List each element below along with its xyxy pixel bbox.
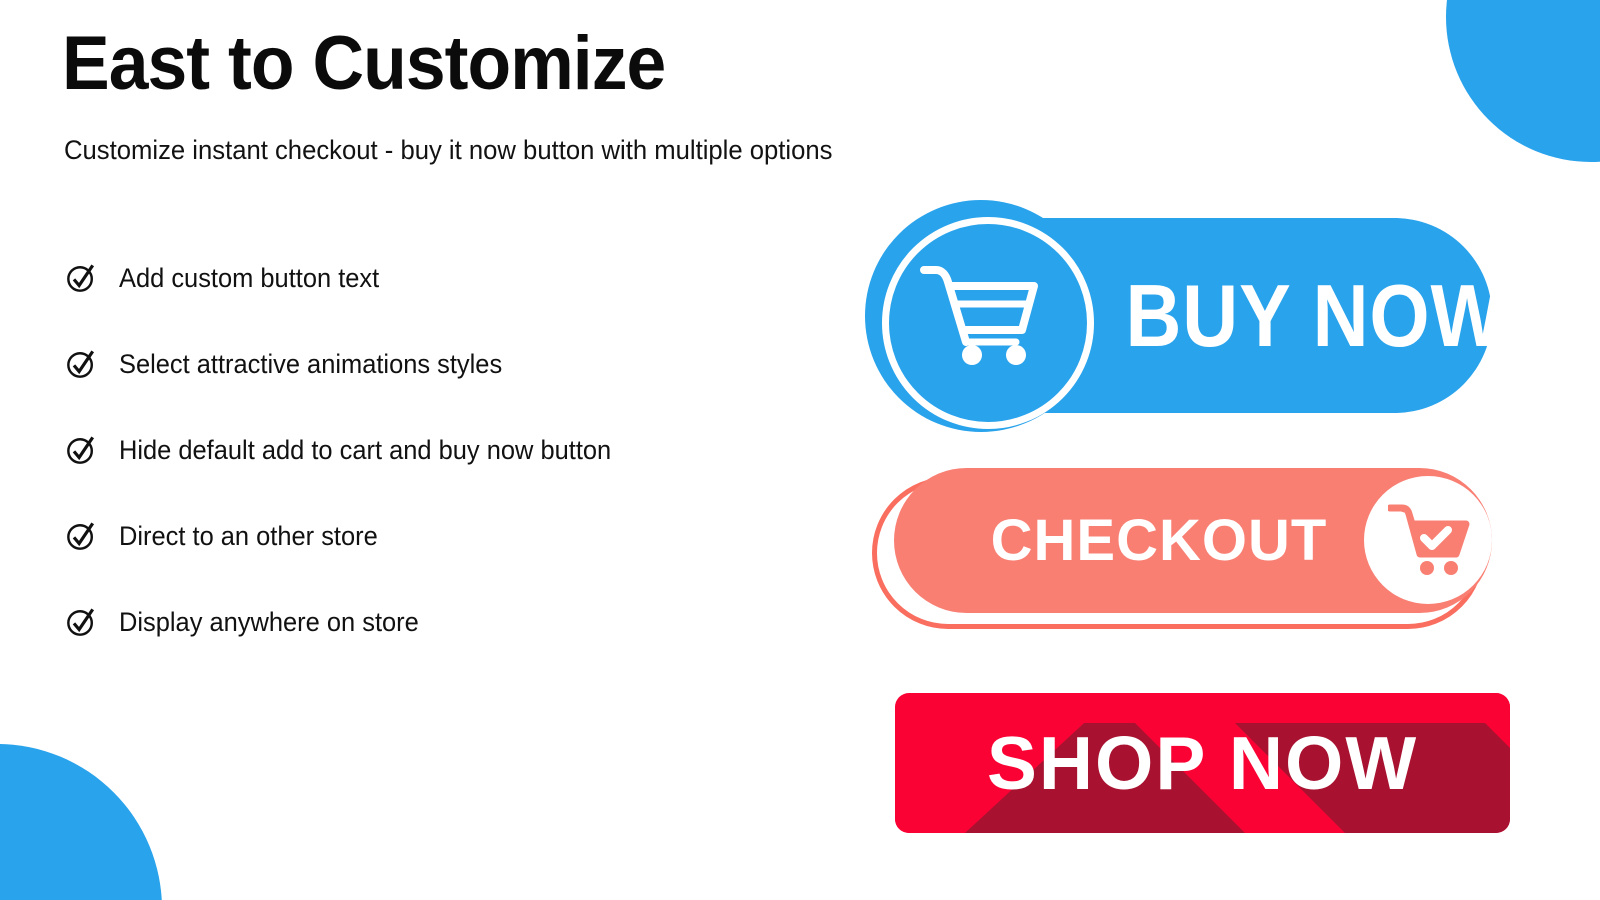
list-item-label: Hide default add to cart and buy now but… — [119, 435, 611, 466]
check-circle-icon — [66, 349, 96, 379]
checkout-body: CHECKOUT — [894, 468, 1492, 613]
check-circle-icon — [66, 435, 96, 465]
promo-banner: East to Customize Customize instant chec… — [0, 0, 1600, 900]
bottom-left-circle-decoration — [0, 744, 162, 900]
shopping-cart-outline-icon — [920, 262, 1042, 370]
list-item: Add custom button text — [66, 250, 886, 306]
list-item-label: Direct to an other store — [119, 521, 378, 552]
checkout-button[interactable]: CHECKOUT — [872, 468, 1492, 623]
buy-now-button[interactable]: BUY NOW — [905, 218, 1492, 413]
shop-now-label: SHOP NOW — [895, 693, 1510, 833]
top-right-circle-decoration — [1446, 0, 1600, 162]
list-item: Hide default add to cart and buy now but… — [66, 422, 886, 478]
list-item-label: Add custom button text — [119, 263, 379, 294]
page-title: East to Customize — [62, 26, 665, 102]
page-subtitle: Customize instant checkout - buy it now … — [64, 134, 832, 166]
feature-list: Add custom button text Select attractive… — [66, 250, 886, 680]
check-circle-icon — [66, 521, 96, 551]
check-circle-icon — [66, 263, 96, 293]
list-item: Select attractive animations styles — [66, 336, 886, 392]
list-item-label: Display anywhere on store — [119, 607, 419, 638]
list-item: Direct to an other store — [66, 508, 886, 564]
checkout-label: CHECKOUT — [974, 468, 1344, 613]
list-item: Display anywhere on store — [66, 594, 886, 650]
shop-now-button[interactable]: SHOP NOW — [895, 693, 1510, 833]
buy-now-icon-badge — [865, 200, 1097, 432]
list-item-label: Select attractive animations styles — [119, 349, 502, 380]
shopping-cart-check-icon — [1388, 504, 1470, 576]
check-circle-icon — [66, 607, 96, 637]
checkout-icon-badge — [1364, 476, 1492, 604]
buy-now-label: BUY NOW — [1165, 218, 1464, 413]
